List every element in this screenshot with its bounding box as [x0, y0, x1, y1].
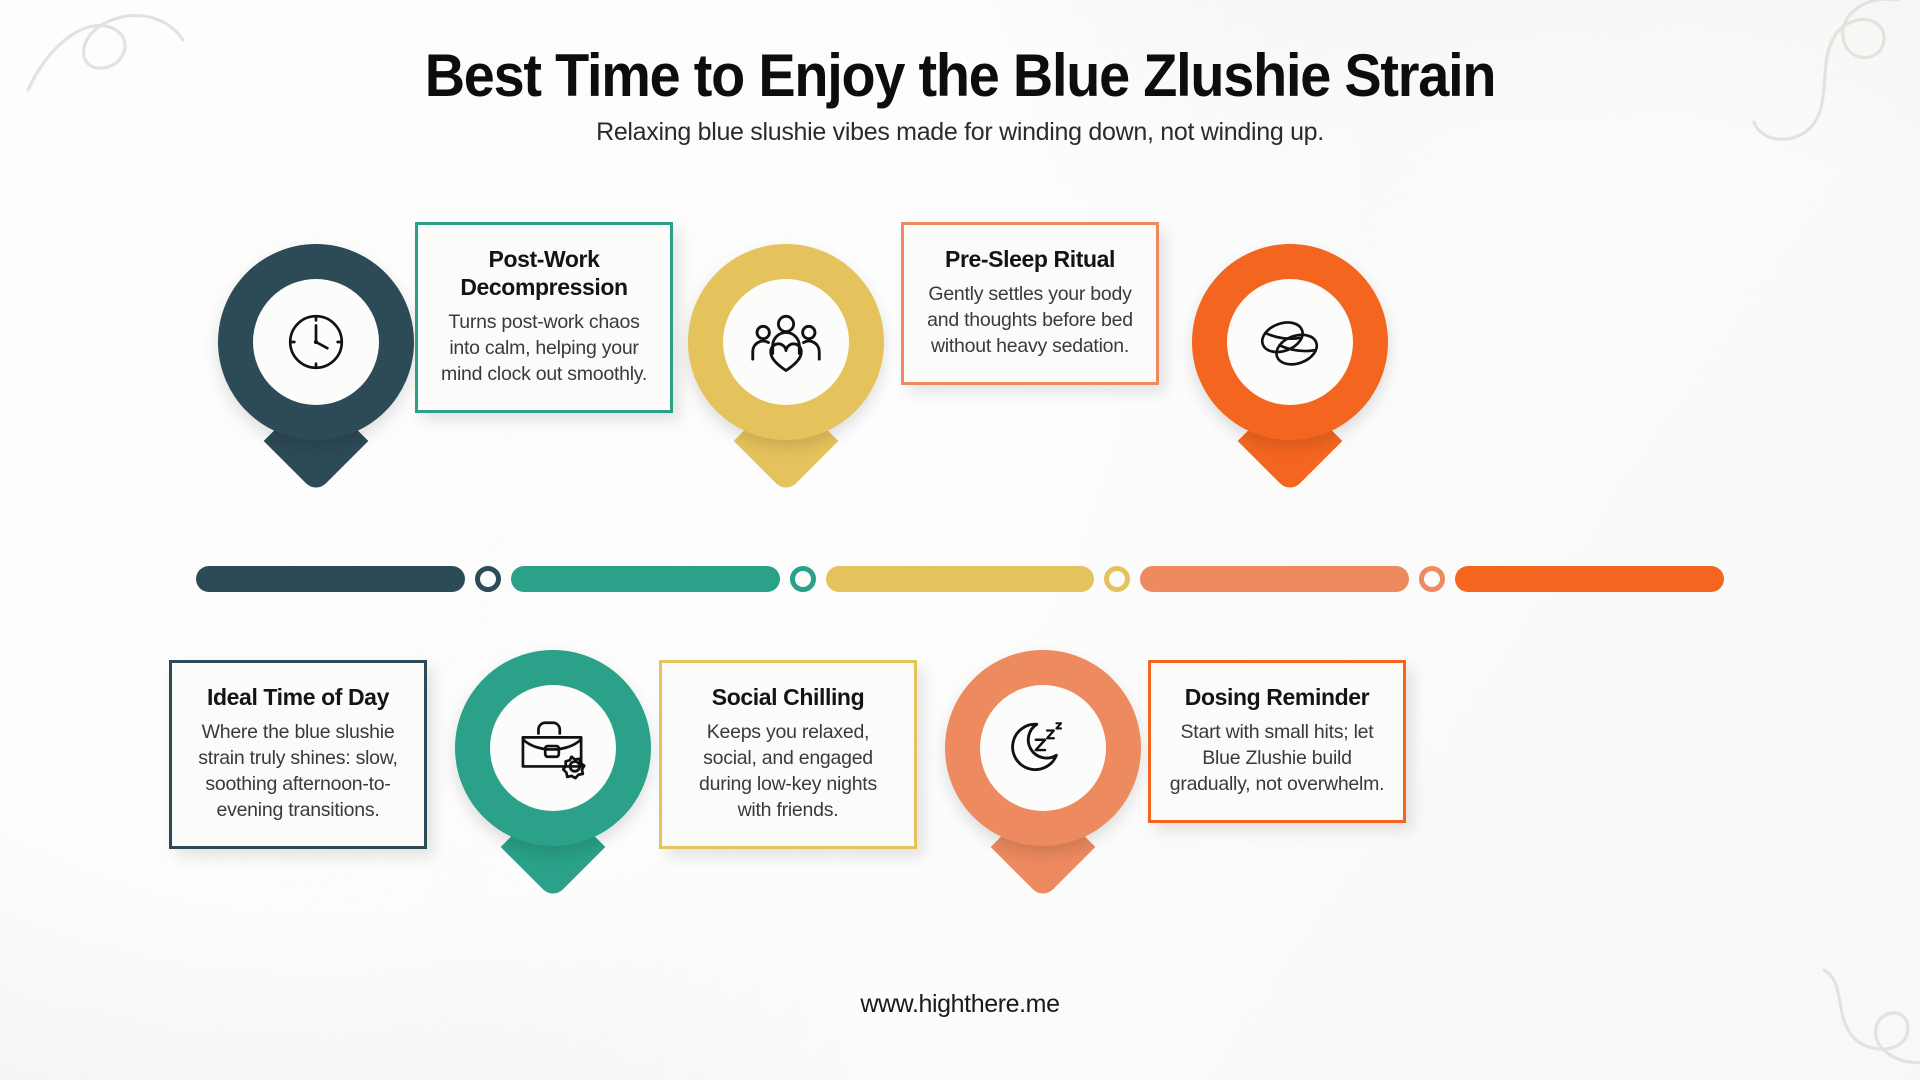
progress-node[interactable] [475, 566, 501, 592]
info-card-title: Social Chilling [680, 683, 896, 711]
progress-node[interactable] [1104, 566, 1130, 592]
info-card[interactable]: Pre-Sleep RitualGently settles your body… [901, 222, 1159, 385]
info-card[interactable]: Dosing ReminderStart with small hits; le… [1148, 660, 1406, 823]
briefcase-badge-icon [517, 716, 589, 780]
info-card-body: Turns post-work chaos into calm, helping… [436, 310, 652, 388]
progress-segment[interactable] [511, 566, 780, 592]
info-card-title: Ideal Time of Day [190, 683, 406, 711]
info-card[interactable]: Social ChillingKeeps you relaxed, social… [659, 660, 917, 849]
map-pin-disc [688, 244, 884, 440]
progress-segment[interactable] [826, 566, 1095, 592]
map-pin-marker[interactable] [1192, 244, 1388, 460]
map-pin-marker[interactable] [455, 650, 651, 866]
pin-slot [218, 244, 414, 460]
info-card-body: Where the blue slushie strain truly shin… [190, 720, 406, 824]
card-slot: Ideal Time of DayWhere the blue slushie … [166, 660, 430, 849]
pin-slot [455, 650, 651, 866]
card-slot: Post-Work DecompressionTurns post-work c… [412, 222, 676, 413]
pills-icon [1254, 313, 1326, 371]
map-pin-marker[interactable] [688, 244, 884, 460]
info-card[interactable]: Ideal Time of DayWhere the blue slushie … [169, 660, 427, 849]
map-pin-inner-circle [1227, 279, 1353, 405]
pin-slot [1192, 244, 1388, 460]
info-card-title: Dosing Reminder [1169, 683, 1385, 711]
card-slot: Pre-Sleep RitualGently settles your body… [898, 222, 1162, 385]
map-pin-marker[interactable] [945, 650, 1141, 866]
header: Best Time to Enjoy the Blue Zlushie Stra… [0, 44, 1920, 147]
info-card-body: Start with small hits; let Blue Zlushie … [1169, 720, 1385, 798]
map-pin-inner-circle [490, 685, 616, 811]
bottom-row: Ideal Time of DayWhere the blue slushie … [0, 650, 1920, 970]
map-pin-disc [218, 244, 414, 440]
progress-track [196, 566, 1724, 592]
map-pin-inner-circle [980, 685, 1106, 811]
top-row: Post-Work DecompressionTurns post-work c… [0, 222, 1920, 522]
clock-icon [283, 309, 349, 375]
info-card-title: Pre-Sleep Ritual [922, 245, 1138, 273]
info-card[interactable]: Post-Work DecompressionTurns post-work c… [415, 222, 673, 413]
map-pin-inner-circle [723, 279, 849, 405]
progress-node[interactable] [790, 566, 816, 592]
people-heart-icon [748, 311, 824, 373]
moon-sleep-icon [1010, 715, 1076, 781]
pin-slot [945, 650, 1141, 866]
map-pin-disc [945, 650, 1141, 846]
card-slot: Social ChillingKeeps you relaxed, social… [656, 660, 920, 849]
map-pin-marker[interactable] [218, 244, 414, 460]
map-pin-disc [1192, 244, 1388, 440]
progress-segment[interactable] [1455, 566, 1724, 592]
progress-segment[interactable] [1140, 566, 1409, 592]
progress-node[interactable] [1419, 566, 1445, 592]
pin-slot [688, 244, 884, 460]
progress-segment[interactable] [196, 566, 465, 592]
info-card-body: Gently settles your body and thoughts be… [922, 282, 1138, 360]
map-pin-inner-circle [253, 279, 379, 405]
info-card-title: Post-Work Decompression [436, 245, 652, 301]
footer-url: www.highthere.me [0, 990, 1920, 1019]
page-title: Best Time to Enjoy the Blue Zlushie Stra… [67, 44, 1853, 108]
map-pin-disc [455, 650, 651, 846]
page-subtitle: Relaxing blue slushie vibes made for win… [0, 118, 1920, 147]
card-slot: Dosing ReminderStart with small hits; le… [1145, 660, 1409, 823]
info-card-body: Keeps you relaxed, social, and engaged d… [680, 720, 896, 824]
